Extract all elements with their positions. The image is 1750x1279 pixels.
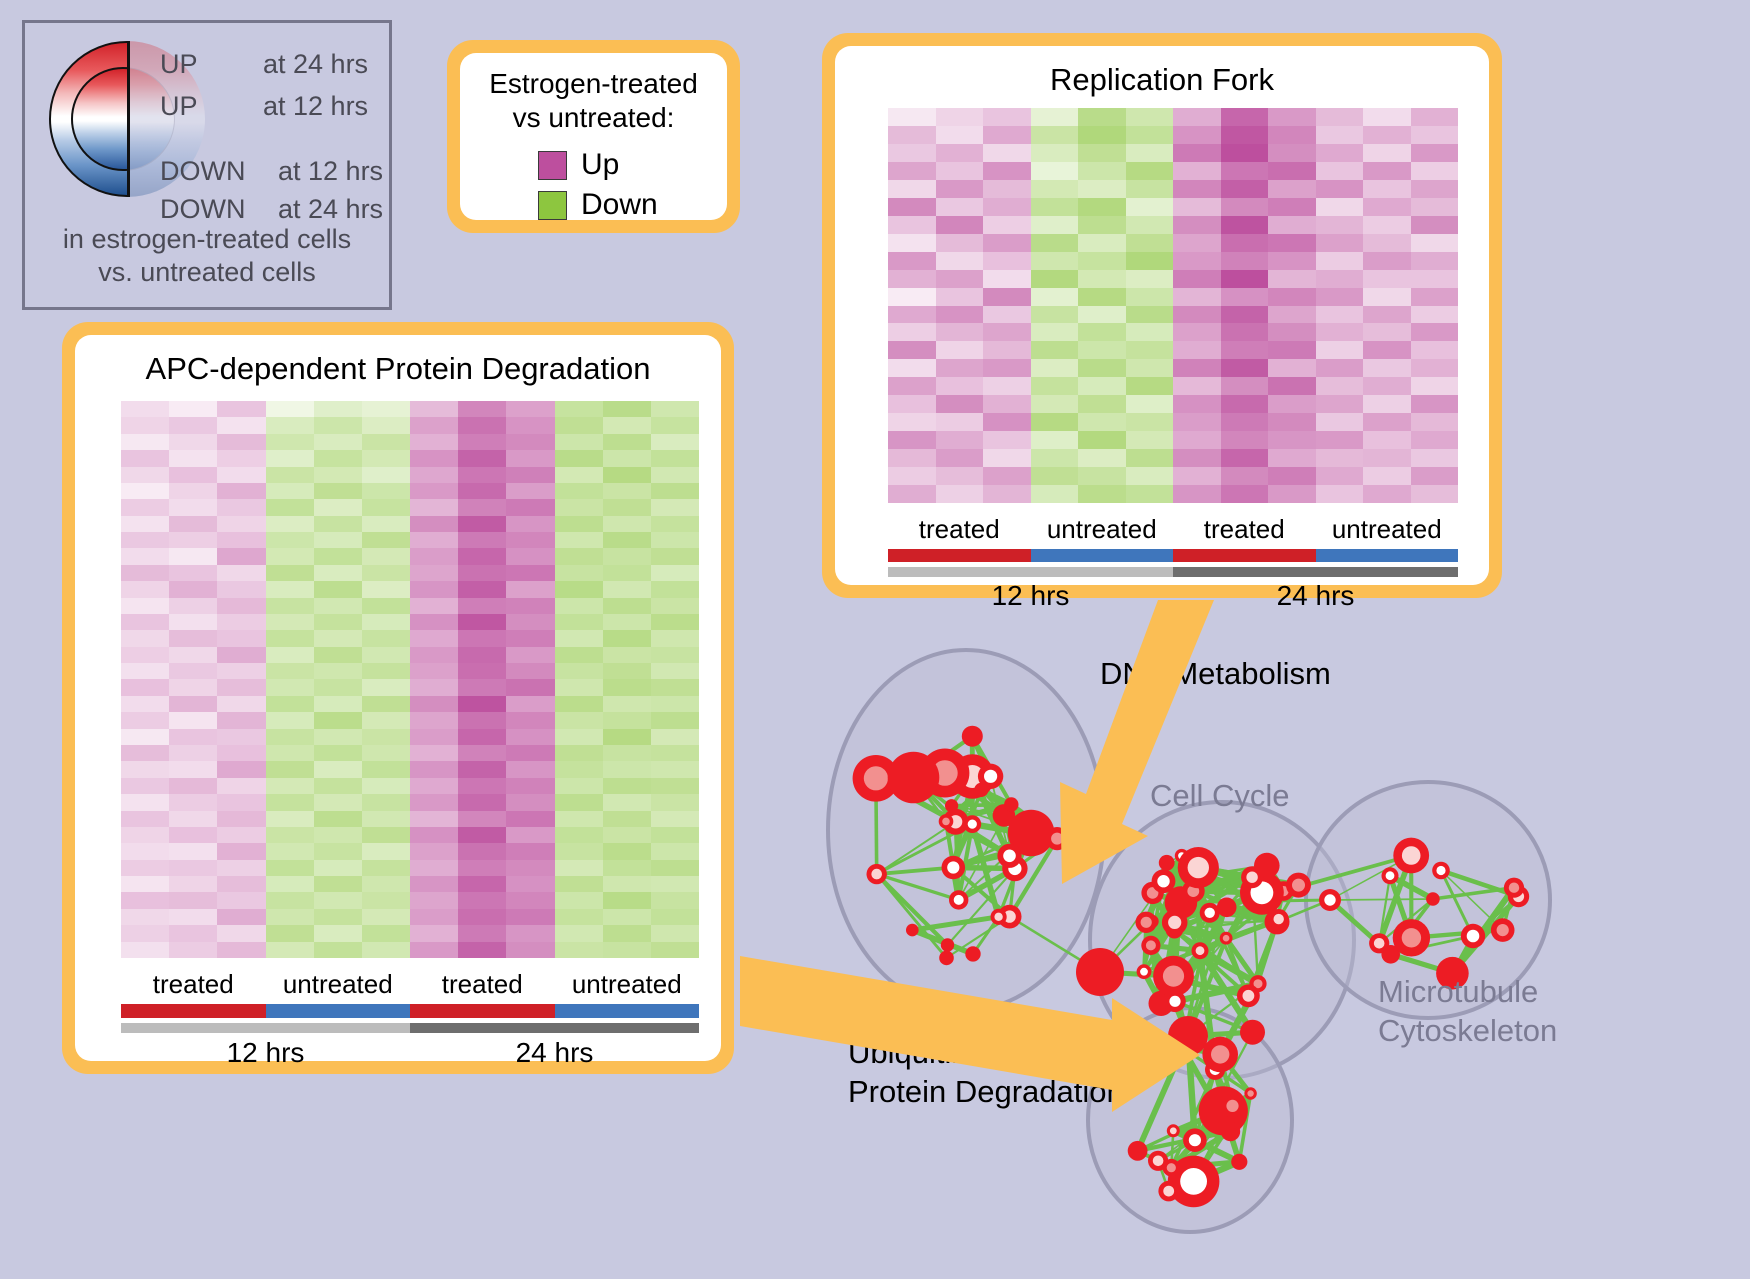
heatmap-cell (1316, 306, 1364, 324)
heatmap-cell (1126, 306, 1174, 324)
heatmap-cell (410, 499, 458, 515)
heatmap-cell (1411, 216, 1459, 234)
heatmap-cell (1221, 359, 1269, 377)
heatmap-cell (1078, 162, 1126, 180)
heatmap-cell (169, 827, 217, 843)
heatmap-cell (1268, 449, 1316, 467)
treatment-bar-segment (121, 1004, 266, 1018)
heatmap-cell (651, 778, 699, 794)
heatmap-cell (1316, 234, 1364, 252)
heatmap-cell (506, 892, 554, 908)
heatmap-cell (888, 144, 936, 162)
heatmap-cell (603, 614, 651, 630)
heatmap-cell (506, 876, 554, 892)
column-group-label: treated (410, 969, 555, 1001)
heatmap-cell (362, 778, 410, 794)
heatmap-cell (217, 663, 265, 679)
heatmap-cell (1268, 323, 1316, 341)
heatmap-cell (1363, 270, 1411, 288)
heatmap-cell (1031, 216, 1079, 234)
heatmap-cell (506, 630, 554, 646)
heatmap-cell (1173, 431, 1221, 449)
heatmap-cell (651, 499, 699, 515)
heatmap-cell (314, 647, 362, 663)
heatmap-cell (1221, 234, 1269, 252)
heatmap-cell (314, 712, 362, 728)
heatmap-cell (362, 499, 410, 515)
heatmap-cell (362, 843, 410, 859)
heatmap-cell (169, 712, 217, 728)
heatmap-cell (1031, 306, 1079, 324)
heatmap-cell (603, 925, 651, 941)
heatmap-cell (555, 794, 603, 810)
heatmap-cell (169, 696, 217, 712)
heatmap-cell (1078, 449, 1126, 467)
heatmap-cell (1221, 341, 1269, 359)
heatmap-cell (506, 794, 554, 810)
heatmap-cell (410, 696, 458, 712)
heatmap-cell (603, 729, 651, 745)
heatmap-cell (266, 450, 314, 466)
heatmap-cell (458, 860, 506, 876)
network-node-core (1169, 996, 1180, 1007)
heatmap-cell (121, 679, 169, 695)
apc-degradation-panel: APC-dependent Protein Degradation treate… (62, 322, 734, 1074)
heatmap-cell (1078, 323, 1126, 341)
heatmap-cell (1126, 341, 1174, 359)
heatmap-cell (410, 434, 458, 450)
heatmap-cell (555, 548, 603, 564)
heatmap-cell (1031, 467, 1079, 485)
heatmap-cell (936, 180, 984, 198)
heatmap-cell (121, 860, 169, 876)
heatmap-cell (362, 860, 410, 876)
heatmap-cell (217, 892, 265, 908)
heatmap-cell (362, 647, 410, 663)
heatmap-cell (314, 614, 362, 630)
heatmap-cell (1031, 252, 1079, 270)
heatmap-cell (266, 876, 314, 892)
heatmap-cell (888, 162, 936, 180)
heatmap-cell (555, 925, 603, 941)
heatmap-cell (458, 630, 506, 646)
heatmap-cell (217, 729, 265, 745)
heatmap-cell (1268, 377, 1316, 395)
heatmap-cell (266, 925, 314, 941)
treatment-bar-segment (888, 549, 1031, 562)
heatmap-cell (217, 827, 265, 843)
heatmap-cell (888, 216, 936, 234)
heatmap-cell (266, 647, 314, 663)
heatmap-cell (1316, 467, 1364, 485)
heatmap-cell (121, 909, 169, 925)
heatmap-cell (314, 532, 362, 548)
heatmap-cell (1031, 323, 1079, 341)
heatmap-cell (1126, 485, 1174, 503)
heatmap-cell (1268, 216, 1316, 234)
heatmap-cell (1316, 341, 1364, 359)
heatmap-cell (458, 811, 506, 827)
heatmap-cell (1316, 270, 1364, 288)
heatmap-cell (458, 532, 506, 548)
network-node-core (1467, 930, 1480, 943)
heatmap-cell (1268, 162, 1316, 180)
heatmap-cell (1126, 108, 1174, 126)
heatmap-cell (362, 942, 410, 958)
heatmap-cell (1268, 467, 1316, 485)
heatmap-cell (1316, 449, 1364, 467)
wheel-label-down-12: DOWN (160, 156, 245, 187)
heatmap-cell (266, 516, 314, 532)
heatmap-cell (1173, 108, 1221, 126)
heatmap-cell (1268, 485, 1316, 503)
heatmap-cell (458, 467, 506, 483)
heatmap-cell (1221, 395, 1269, 413)
heatmap-cell (603, 483, 651, 499)
heatmap-cell (314, 548, 362, 564)
heatmap-cell (888, 323, 936, 341)
heatmap-cell (1173, 270, 1221, 288)
heatmap-cell (1411, 126, 1459, 144)
heatmap-cell (651, 630, 699, 646)
network-node (906, 924, 919, 937)
heatmap-cell (555, 450, 603, 466)
heatmap-cell (603, 532, 651, 548)
network-node-core (1141, 917, 1152, 928)
cluster-label-dna-metabolism: DNA Metabolism (1100, 656, 1331, 692)
cluster-label-microtubule: Microtubule (1378, 973, 1557, 1012)
heatmap-cell (217, 942, 265, 958)
heatmap-cell (888, 413, 936, 431)
network-node-core (1247, 1090, 1253, 1096)
heatmap-cell (121, 745, 169, 761)
heatmap-cell (888, 359, 936, 377)
heatmap-cell (266, 778, 314, 794)
heatmap-cell (651, 942, 699, 958)
heatmap-cell (1031, 270, 1079, 288)
heatmap-cell (936, 395, 984, 413)
heatmap-cell (169, 876, 217, 892)
heatmap-cell (603, 516, 651, 532)
heatmap-cell (1316, 198, 1364, 216)
heatmap-cell (506, 712, 554, 728)
heatmap-cell (217, 630, 265, 646)
heatmap-cell (362, 663, 410, 679)
heatmap-cell (1221, 288, 1269, 306)
heatmap-cell (1078, 126, 1126, 144)
heatmap-cell (217, 499, 265, 515)
key-row-down: Down (538, 188, 658, 222)
heatmap-cell (651, 794, 699, 810)
heatmap-cell (1078, 234, 1126, 252)
heatmap-cell (362, 761, 410, 777)
heatmap-cell (266, 827, 314, 843)
heatmap-cell (555, 712, 603, 728)
heatmap-cell (555, 696, 603, 712)
cluster-label-cytoskeleton: Cytoskeleton (1378, 1012, 1557, 1051)
heatmap-cell (314, 679, 362, 695)
heatmap-cell (651, 434, 699, 450)
heatmap-cell (121, 516, 169, 532)
heatmap-cell (1363, 341, 1411, 359)
heatmap-cell (362, 467, 410, 483)
pathway-network-diagram: DNA Metabolism Cell Cycle Microtubule Cy… (770, 600, 1750, 1279)
heatmap-cell (1078, 270, 1126, 288)
network-node-core (1205, 908, 1215, 918)
heatmap-cell (1126, 413, 1174, 431)
heatmap-cell (169, 401, 217, 417)
heatmap-cell (217, 843, 265, 859)
heatmap-cell (888, 252, 936, 270)
heatmap-cell (458, 581, 506, 597)
heatmap-cell (603, 467, 651, 483)
heatmap-cell (1363, 359, 1411, 377)
heatmap-cell (888, 288, 936, 306)
network-node-core (1153, 1156, 1164, 1167)
heatmap-cell (506, 761, 554, 777)
heatmap-cell (458, 778, 506, 794)
heatmap-cell (362, 679, 410, 695)
network-node-core (1324, 894, 1335, 905)
cluster-label-cell-cycle: Cell Cycle (1150, 778, 1290, 814)
column-group-label: untreated (555, 969, 700, 1001)
heatmap-cell (603, 696, 651, 712)
column-group-label: treated (888, 514, 1031, 546)
heatmap-cell (506, 598, 554, 614)
network-node (1231, 1154, 1247, 1170)
network-svg (770, 600, 1750, 1279)
heatmap-cell (1363, 180, 1411, 198)
heatmap-cell (506, 614, 554, 630)
heatmap-cell (121, 925, 169, 941)
heatmap-cell (362, 434, 410, 450)
heatmap-cell (458, 892, 506, 908)
heatmap-cell (1173, 323, 1221, 341)
heatmap-cell (936, 126, 984, 144)
network-node-core (1274, 914, 1284, 924)
network-node-core (994, 913, 1002, 921)
heatmap-cell (1221, 377, 1269, 395)
network-node-core (1168, 916, 1181, 929)
heatmap-cell (936, 216, 984, 234)
heatmap-cell (314, 794, 362, 810)
heatmap-cell (1173, 341, 1221, 359)
heatmap-cell (217, 794, 265, 810)
heatmap-cell (362, 565, 410, 581)
heatmap-cell (410, 614, 458, 630)
network-node-core (864, 766, 888, 790)
heatmap-cell (1411, 341, 1459, 359)
heatmap-cell (169, 614, 217, 630)
network-node-core (1180, 1168, 1207, 1195)
time-label: 12 hrs (121, 1037, 410, 1073)
heatmap-cell (936, 288, 984, 306)
heatmap-cell (169, 532, 217, 548)
heatmap-cell (314, 499, 362, 515)
heatmap-cell (1031, 413, 1079, 431)
heatmap-cell (555, 843, 603, 859)
wheel-label-down-24: DOWN (160, 194, 245, 225)
heatmap-cell (603, 778, 651, 794)
network-node-core (1189, 1134, 1201, 1146)
heatmap-cell (410, 401, 458, 417)
heatmap-cell (506, 942, 554, 958)
heatmap-cell (1363, 485, 1411, 503)
heatmap-cell (217, 598, 265, 614)
heatmap-cell (314, 942, 362, 958)
network-node-core (1497, 924, 1509, 936)
heatmap-cell (888, 306, 936, 324)
replication-fork-column-labels: treateduntreatedtreateduntreated (888, 514, 1458, 546)
heatmap-cell (603, 761, 651, 777)
heatmap-cell (506, 417, 554, 433)
heatmap-cell (1268, 306, 1316, 324)
heatmap-cell (651, 761, 699, 777)
heatmap-cell (1221, 485, 1269, 503)
heatmap-cell (169, 794, 217, 810)
heatmap-cell (410, 663, 458, 679)
heatmap-cell (410, 679, 458, 695)
heatmap-cell (458, 450, 506, 466)
heatmap-cell (458, 827, 506, 843)
network-node-core (1211, 1045, 1229, 1063)
heatmap-cell (888, 431, 936, 449)
heatmap-cell (314, 401, 362, 417)
heatmap-cell (266, 434, 314, 450)
heatmap-cell (169, 729, 217, 745)
heatmap-cell (410, 794, 458, 810)
heatmap-cell (936, 485, 984, 503)
heatmap-cell (603, 942, 651, 958)
network-node-core (968, 820, 977, 829)
heatmap-cell (555, 745, 603, 761)
heatmap-cell (121, 434, 169, 450)
replication-fork-treatment-bar (888, 549, 1458, 562)
heatmap-cell (266, 401, 314, 417)
network-node (1217, 898, 1237, 918)
heatmap-cell (410, 630, 458, 646)
heatmap-cell (506, 548, 554, 564)
heatmap-cell (1126, 252, 1174, 270)
time-bar-segment (410, 1023, 699, 1033)
heatmap-cell (1078, 431, 1126, 449)
heatmap-cell (651, 548, 699, 564)
key-title-line2: vs untreated: (460, 101, 727, 135)
heatmap-cell (121, 598, 169, 614)
heatmap-cell (121, 876, 169, 892)
heatmap-cell (314, 876, 362, 892)
column-group-label: untreated (266, 969, 411, 1001)
heatmap-cell (506, 532, 554, 548)
heatmap-cell (983, 323, 1031, 341)
heatmap-cell (458, 729, 506, 745)
heatmap-cell (506, 843, 554, 859)
heatmap-cell (603, 663, 651, 679)
heatmap-cell (458, 909, 506, 925)
heatmap-cell (169, 434, 217, 450)
heatmap-cell (1268, 144, 1316, 162)
column-group-label: treated (121, 969, 266, 1001)
heatmap-cell (410, 729, 458, 745)
heatmap-cell (362, 892, 410, 908)
heatmap-cell (506, 499, 554, 515)
heatmap-cell (1411, 270, 1459, 288)
heatmap-cell (1411, 359, 1459, 377)
heatmap-cell (217, 532, 265, 548)
network-node-core (1386, 871, 1395, 880)
network-node-core (1163, 1186, 1174, 1197)
heatmap-cell (266, 729, 314, 745)
heatmap-cell (314, 663, 362, 679)
heatmap-cell (266, 712, 314, 728)
heatmap-cell (458, 942, 506, 958)
heatmap-cell (314, 843, 362, 859)
treatment-bar-segment (266, 1004, 411, 1018)
heatmap-cell (1363, 234, 1411, 252)
heatmap-cell (121, 827, 169, 843)
heatmap-cell (458, 401, 506, 417)
heatmap-cell (888, 180, 936, 198)
heatmap-cell (1411, 306, 1459, 324)
cluster-label-microtubule-cytoskeleton: Microtubule Cytoskeleton (1378, 973, 1557, 1051)
heatmap-cell (983, 198, 1031, 216)
heatmap-cell (314, 696, 362, 712)
heatmap-cell (362, 630, 410, 646)
key-title-line1: Estrogen-treated (460, 67, 727, 101)
heatmap-cell (217, 712, 265, 728)
wheel-time-up-24: at 24 hrs (263, 49, 368, 80)
heatmap-cell (410, 909, 458, 925)
column-group-label: treated (1173, 514, 1316, 546)
apc-time-bar (121, 1023, 699, 1033)
heatmap-cell (1126, 180, 1174, 198)
heatmap-cell (603, 892, 651, 908)
heatmap-cell (1078, 341, 1126, 359)
heatmap-cell (1221, 198, 1269, 216)
heatmap-cell (651, 483, 699, 499)
heatmap-cell (603, 565, 651, 581)
heatmap-cell (458, 647, 506, 663)
heatmap-cell (1078, 395, 1126, 413)
heatmap-cell (169, 811, 217, 827)
heatmap-cell (1126, 234, 1174, 252)
heatmap-cell (314, 467, 362, 483)
heatmap-cell (506, 565, 554, 581)
heatmap-cell (410, 647, 458, 663)
heatmap-cell (936, 252, 984, 270)
heatmap-cell (1221, 144, 1269, 162)
network-node-core (1402, 928, 1421, 947)
heatmap-cell (1173, 306, 1221, 324)
heatmap-cell (1221, 108, 1269, 126)
heatmap-cell (266, 811, 314, 827)
heatmap-cell (362, 909, 410, 925)
heatmap-cell (121, 647, 169, 663)
network-node-core (1374, 938, 1385, 949)
heatmap-cell (169, 679, 217, 695)
heatmap-cell (1221, 431, 1269, 449)
network-node (1004, 797, 1018, 811)
heatmap-cell (1411, 144, 1459, 162)
heatmap-cell (506, 434, 554, 450)
heatmap-cell (555, 663, 603, 679)
heatmap-cell (121, 581, 169, 597)
heatmap-cell (458, 696, 506, 712)
network-node-core (942, 818, 950, 826)
heatmap-cell (1173, 485, 1221, 503)
heatmap-cell (1221, 449, 1269, 467)
heatmap-cell (121, 761, 169, 777)
